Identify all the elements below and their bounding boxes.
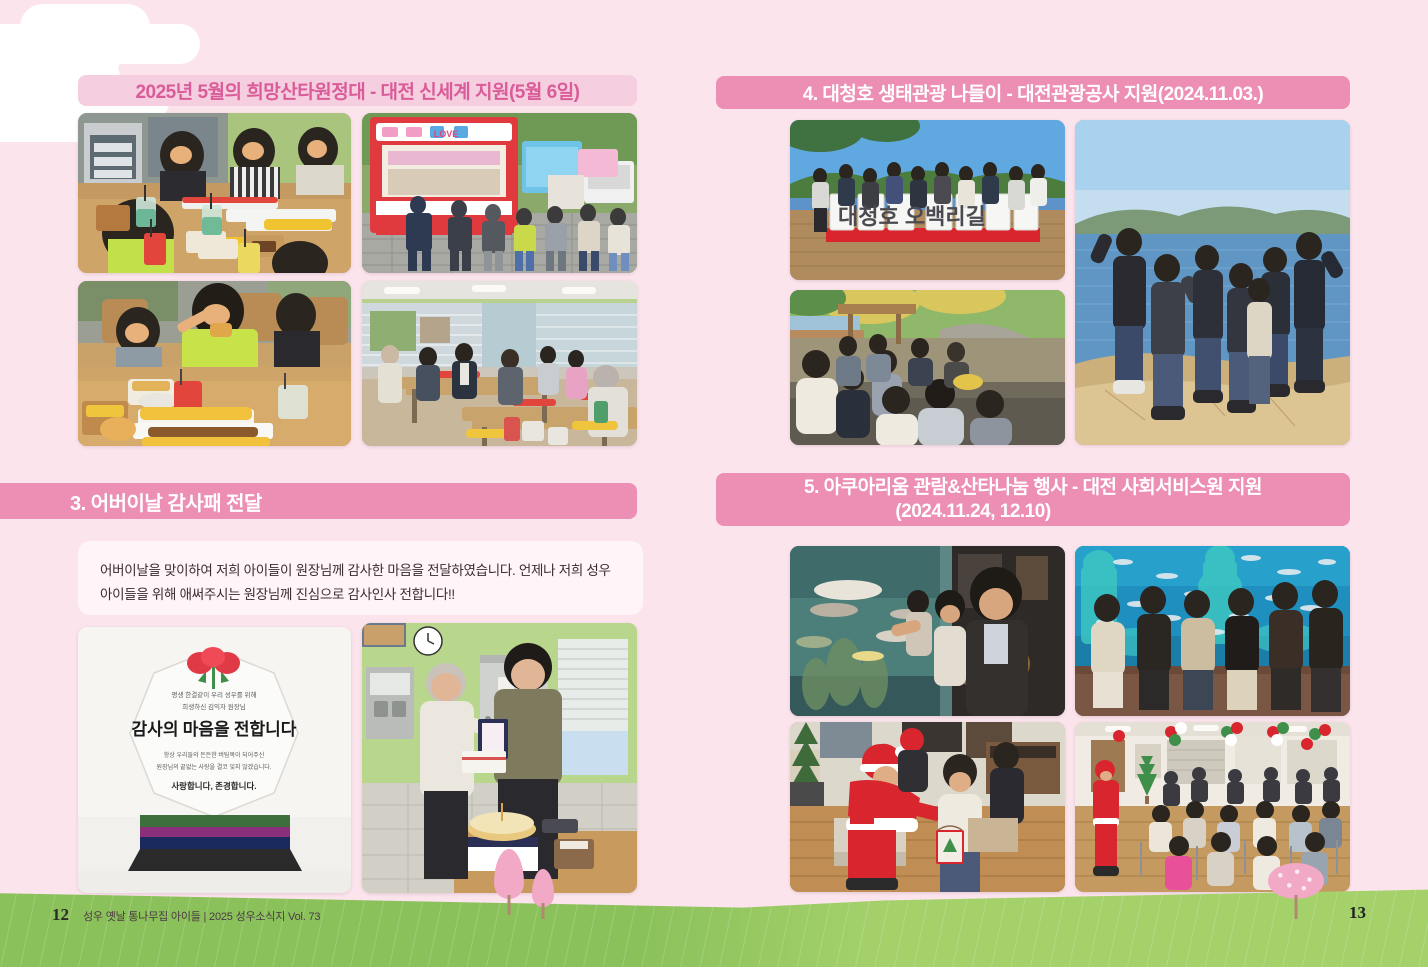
photo-kids-eating-corn-dog [78,281,351,446]
page-number-right: 13 [1349,903,1366,923]
section5-title-line1: 5. 아쿠아리움 관람&산타나눔 행사 - 대전 사회서비스원 지원 [804,476,1262,500]
svg-text:원장님의 끝없는 사랑을 결코 잊지 않겠습니다.: 원장님의 끝없는 사랑을 결코 잊지 않겠습니다. [157,763,272,771]
photo-cafeteria-gathering [362,281,637,446]
section-header-4: 4. 대청호 생태관광 나들이 - 대전관광공사 지원(2024.11.03.) [716,76,1350,109]
footer-left: 12 성우 옛날 통나무집 아이들 | 2025 성우소식지 Vol. 73 [52,905,320,925]
photo-daecheongho-sign-group: 대청호 오백리길 [790,120,1065,280]
photo-lakeside-rock-group [1075,120,1350,445]
svg-text:희생하신 김익자 원장님: 희생하신 김익자 원장님 [182,702,245,711]
svg-text:사랑합니다, 존경합니다.: 사랑합니다, 존경합니다. [171,781,256,791]
svg-text:감사의 마음을 전합니다: 감사의 마음을 전합니다 [132,719,297,739]
section-header-1: 2025년 5월의 희망산타원정대 - 대전 신세계 지원(5월 6일) [78,75,637,106]
photo-foodtruck-line-outside: LOVE [362,113,637,273]
section-header-5: 5. 아쿠아리움 관람&산타나눔 행사 - 대전 사회서비스원 지원 (2024… [716,473,1350,526]
photo-ecotour-sitting-lecture [790,290,1065,445]
photo-aquarium-freshwater-tank [790,546,1065,716]
section5-title-line2: (2024.11.24, 12.10) [895,500,1050,524]
page-number-left: 12 [52,905,69,925]
photo-foodtruck-table-snacks [78,113,351,273]
section3-description: 어버이날을 맞이하여 저희 아이들이 원장님께 감사한 마음을 전달하였습니다.… [78,541,643,615]
section-header-3: 3. 어버이날 감사패 전달 [0,483,637,519]
pink-tree-icon [492,853,526,915]
photo-aquarium-big-tank-bench [1075,546,1350,716]
pink-tree-icon [1268,861,1324,919]
svg-text:LOVE: LOVE [434,129,459,139]
svg-text:평생 한결같이 우리 성우를 위해: 평생 한결같이 우리 성우를 위해 [172,690,257,699]
svg-text:항상 우리들의 든든한 버팀목이 되어주신: 항상 우리들의 든든한 버팀목이 되어주신 [164,751,265,759]
photo-santa-gift-giving [790,722,1065,892]
footer-text: 성우 옛날 통나무집 아이들 | 2025 성우소식지 Vol. 73 [83,908,320,924]
svg-text:대청호 오백리길: 대청호 오백리길 [838,204,986,229]
newsletter-spread: 2025년 5월의 희망산타원정대 - 대전 신세계 지원(5월 6일) [0,0,1428,967]
pink-tree-icon [530,871,556,919]
photo-appreciation-plaque: 평생 한결같이 우리 성우를 위해 희생하신 김익자 원장님 감사의 마음을 전… [78,627,351,893]
